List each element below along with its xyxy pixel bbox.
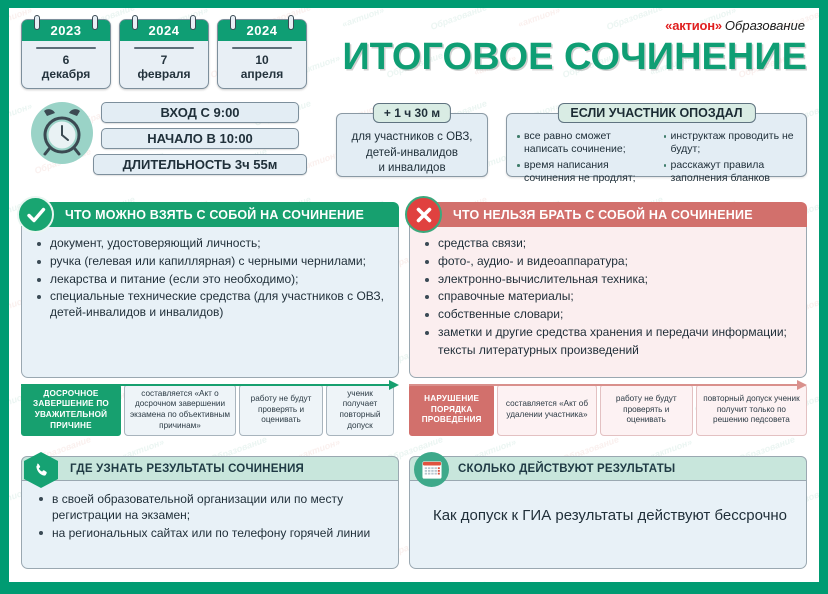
calendar-divider: [36, 47, 96, 49]
brand-name: «актион»: [665, 18, 722, 33]
list-item: справочные материалы;: [424, 289, 794, 305]
calendar-day: 7: [126, 53, 202, 67]
extra-time-line: детей-инвалидов: [337, 146, 487, 162]
list-item: электронно-вычислительная техника;: [424, 272, 794, 288]
calendar-divider: [134, 47, 194, 49]
list-item: на региональных сайтах или по телефону г…: [38, 525, 386, 541]
watermark-text: Образование: [77, 578, 136, 582]
flow-arrow-red: [409, 384, 807, 386]
forbidden-panel-title: ЧТО НЕЛЬЗЯ БРАТЬ С СОБОЙ НА СОЧИНЕНИЕ: [453, 208, 753, 222]
forbidden-list: средства связи; фото-, аудио- и видеоапп…: [424, 236, 794, 359]
watermark-text: «актион»: [9, 101, 33, 125]
calendar-ring-icon: [34, 15, 40, 30]
watermark-text: «актион»: [341, 581, 386, 582]
where-results-panel: ГДЕ УЗНАТЬ РЕЗУЛЬТАТЫ СОЧИНЕНИЯ в своей …: [21, 456, 399, 569]
arrow-line: [409, 384, 798, 386]
list-item: время написания сочинения не продлят;: [517, 159, 650, 185]
watermark-text: «актион»: [693, 581, 738, 582]
page-title: ИТОГОВОЕ СОЧИНЕНИЕ: [342, 36, 807, 79]
list-item: в своей образовательной организации или …: [38, 491, 386, 523]
calendar-ring-icon: [132, 15, 138, 30]
forbidden-panel-header: ЧТО НЕЛЬЗЯ БРАТЬ С СОБОЙ НА СОЧИНЕНИЕ: [409, 202, 807, 227]
list-item: фото-, аудио- и видеоаппаратура;: [424, 254, 794, 270]
watermark-text: Образование: [781, 578, 819, 582]
late-list-left: все равно сможет написать сочинение; вре…: [517, 130, 650, 172]
early-finish-chain: ДОСРОЧНОЕ ЗАВЕРШЕНИЕ ПО УВАЖИТЕЛЬНОЙ ПРИ…: [21, 384, 399, 436]
exam-dates-row: 2023 6 декабря 2024 7 февраля: [21, 19, 307, 89]
watermark-text: «актион»: [165, 581, 210, 582]
schedule-list: ВХОД С 9:00 НАЧАЛО В 10:00 ДЛИТЕЛЬНОСТЬ …: [101, 102, 307, 180]
list-item: специальные технические средства (для уч…: [36, 289, 386, 321]
list-item: инструктаж проводить не будут;: [664, 130, 797, 156]
extra-time-box: + 1 ч 30 м для участников с ОВЗ, детей-и…: [336, 113, 488, 177]
calendar-body: 10 апреля: [218, 41, 306, 88]
allowed-panel-header: ЧТО МОЖНО ВЗЯТЬ С СОБОЙ НА СОЧИНЕНИЕ: [21, 202, 399, 227]
results-validity-header: СКОЛЬКО ДЕЙСТВУЮТ РЕЗУЛЬТАТЫ: [409, 456, 807, 481]
list-item: заметки и другие средства хранения и пер…: [424, 325, 794, 341]
chain-lead: НАРУШЕНИЕ ПОРЯДКА ПРОВЕДЕНИЯ: [409, 384, 494, 436]
calendar-body: 7 февраля: [120, 41, 208, 88]
brand-logo: «актион»Образование: [665, 18, 805, 33]
watermark-text: Образование: [429, 578, 488, 582]
calendar-month: апреля: [224, 67, 300, 82]
schedule-entry: ВХОД С 9:00: [101, 102, 299, 123]
list-item: средства связи;: [424, 236, 794, 252]
allowed-panel: ЧТО МОЖНО ВЗЯТЬ С СОБОЙ НА СОЧИНЕНИЕ док…: [21, 202, 399, 378]
extra-time-badge: + 1 ч 30 м: [373, 103, 451, 123]
results-validity-body: Как допуск к ГИА результаты действуют бе…: [409, 481, 807, 569]
calendar-card: 2024 10 апреля: [217, 19, 307, 89]
results-validity-title: СКОЛЬКО ДЕЙСТВУЮТ РЕЗУЛЬТАТЫ: [458, 463, 675, 475]
allowed-list: документ, удостоверяющий личность; ручка…: [36, 236, 386, 321]
list-item: собственные словари;: [424, 307, 794, 323]
watermark-text: Образование: [605, 578, 664, 582]
where-results-title: ГДЕ УЗНАТЬ РЕЗУЛЬТАТЫ СОЧИНЕНИЯ: [70, 463, 304, 475]
late-list-right: инструктаж проводить не будут; расскажут…: [664, 130, 797, 172]
chain-step: составляется «Акт о досрочном завершении…: [124, 384, 236, 436]
schedule-icon-wrap: [31, 102, 93, 164]
watermark-text: Образование: [429, 8, 488, 32]
brand-suffix: Образование: [725, 18, 805, 33]
schedule-entry: ДЛИТЕЛЬНОСТЬ 3ч 55м: [93, 154, 307, 175]
arrow-line: [21, 384, 390, 386]
calendar-ring-icon: [92, 15, 98, 30]
calendar-divider: [232, 47, 292, 49]
where-results-header: ГДЕ УЗНАТЬ РЕЗУЛЬТАТЫ СОЧИНЕНИЯ: [21, 456, 399, 481]
infographic-page: «актион»Образование«актион»Образование«а…: [0, 0, 828, 594]
infographic-canvas: «актион»Образование«актион»Образование«а…: [9, 8, 819, 582]
late-participant-badge: ЕСЛИ УЧАСТНИК ОПОЗДАЛ: [557, 103, 755, 123]
watermark-text: «актион»: [517, 8, 562, 29]
chain-step: работу не будут проверять и оценивать: [600, 384, 693, 436]
calendar-ring-icon: [288, 15, 294, 30]
watermark-text: Образование: [605, 8, 664, 32]
chain-lead: ДОСРОЧНОЕ ЗАВЕРШЕНИЕ ПО УВАЖИТЕЛЬНОЙ ПРИ…: [21, 384, 121, 436]
calendar-icon: [414, 452, 449, 487]
extra-time-line: и инвалидов: [337, 161, 487, 177]
extra-time-line: для участников с ОВЗ,: [337, 130, 487, 146]
watermark-text: «актион»: [9, 581, 33, 582]
chain-step: ученик получает повторный допуск: [326, 384, 394, 436]
calendar-body: 6 декабря: [22, 41, 110, 88]
list-item: документ, удостоверяющий личность;: [36, 236, 386, 252]
forbidden-panel-body: средства связи; фото-, аудио- и видеоапп…: [409, 227, 807, 378]
results-validity-text: Как допуск к ГИА результаты действуют бе…: [426, 491, 794, 533]
calendar-ring-icon: [230, 15, 236, 30]
forbidden-panel: ЧТО НЕЛЬЗЯ БРАТЬ С СОБОЙ НА СОЧИНЕНИЕ ср…: [409, 202, 807, 378]
calendar-ring-icon: [190, 15, 196, 30]
chain-step: работу не будут проверять и оценивать: [239, 384, 323, 436]
watermark-text: Образование: [253, 578, 312, 582]
calendar-card: 2023 6 декабря: [21, 19, 111, 89]
alarm-clock-icon: [31, 102, 93, 164]
violation-chain: НАРУШЕНИЕ ПОРЯДКА ПРОВЕДЕНИЯ составляетс…: [409, 384, 807, 436]
late-participant-box: ЕСЛИ УЧАСТНИК ОПОЗДАЛ все равно сможет н…: [506, 113, 807, 177]
arrow-head: [389, 380, 399, 390]
check-circle-icon: [17, 196, 54, 233]
list-item: лекарства и питание (если это необходимо…: [36, 272, 386, 288]
where-results-list: в своей образовательной организации или …: [38, 491, 386, 542]
list-item: тексты литературных произведений: [424, 343, 794, 359]
cross-circle-icon: [405, 196, 442, 233]
watermark-text: «актион»: [517, 581, 562, 582]
arrow-head: [797, 380, 807, 390]
chain-step: составляется «Акт об удалении участника»: [497, 384, 596, 436]
flow-arrow-green: [21, 384, 399, 386]
list-item: все равно сможет написать сочинение;: [517, 130, 650, 156]
calendar-month: февраля: [126, 67, 202, 82]
where-results-body: в своей образовательной организации или …: [21, 481, 399, 569]
allowed-panel-body: документ, удостоверяющий личность; ручка…: [21, 227, 399, 378]
list-item: расскажут правила заполнения бланков: [664, 159, 797, 185]
allowed-panel-title: ЧТО МОЖНО ВЗЯТЬ С СОБОЙ НА СОЧИНЕНИЕ: [65, 208, 364, 222]
schedule-entry: НАЧАЛО В 10:00: [101, 128, 299, 149]
calendar-day: 10: [224, 53, 300, 67]
chain-step: повторный допуск ученик получит только п…: [696, 384, 807, 436]
calendar-day: 6: [28, 53, 104, 67]
list-item: ручка (гелевая или капиллярная) с черным…: [36, 254, 386, 270]
results-validity-panel: СКОЛЬКО ДЕЙСТВУЮТ РЕЗУЛЬТАТЫ Как допуск …: [409, 456, 807, 569]
calendar-month: декабря: [28, 67, 104, 82]
watermark-text: «актион»: [341, 8, 386, 29]
calendar-card: 2024 7 февраля: [119, 19, 209, 89]
